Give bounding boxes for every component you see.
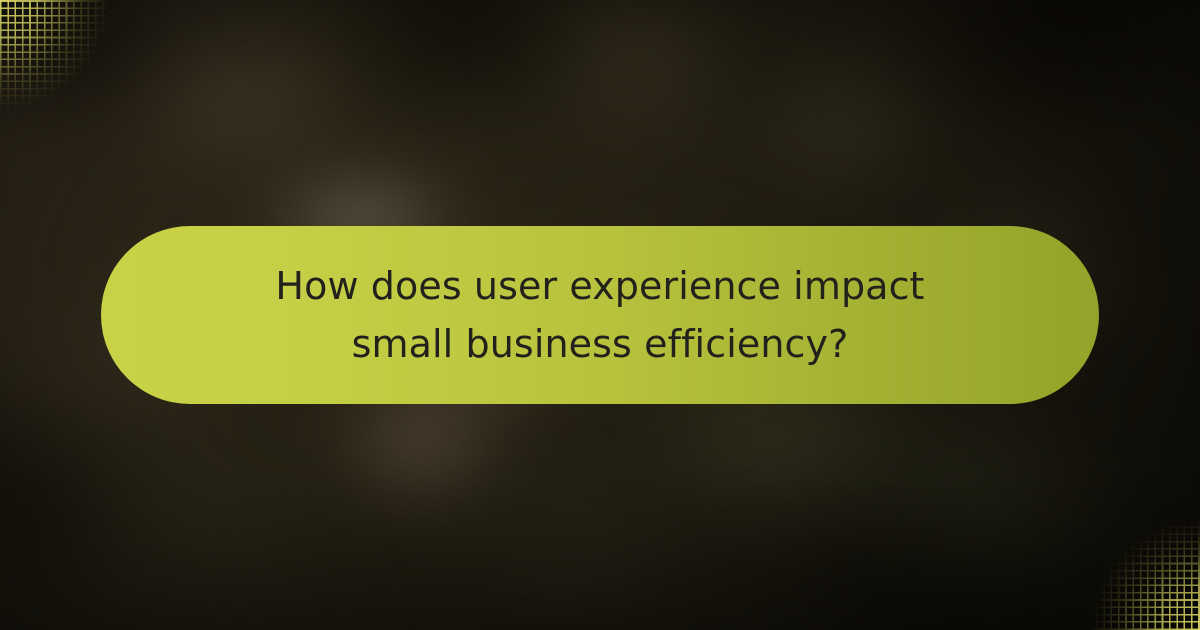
question-text: How does user experience impact small bu… <box>250 257 950 373</box>
question-pill: How does user experience impact small bu… <box>101 226 1099 404</box>
pill-container: How does user experience impact small bu… <box>0 0 1200 630</box>
question-card: How does user experience impact small bu… <box>0 0 1200 630</box>
